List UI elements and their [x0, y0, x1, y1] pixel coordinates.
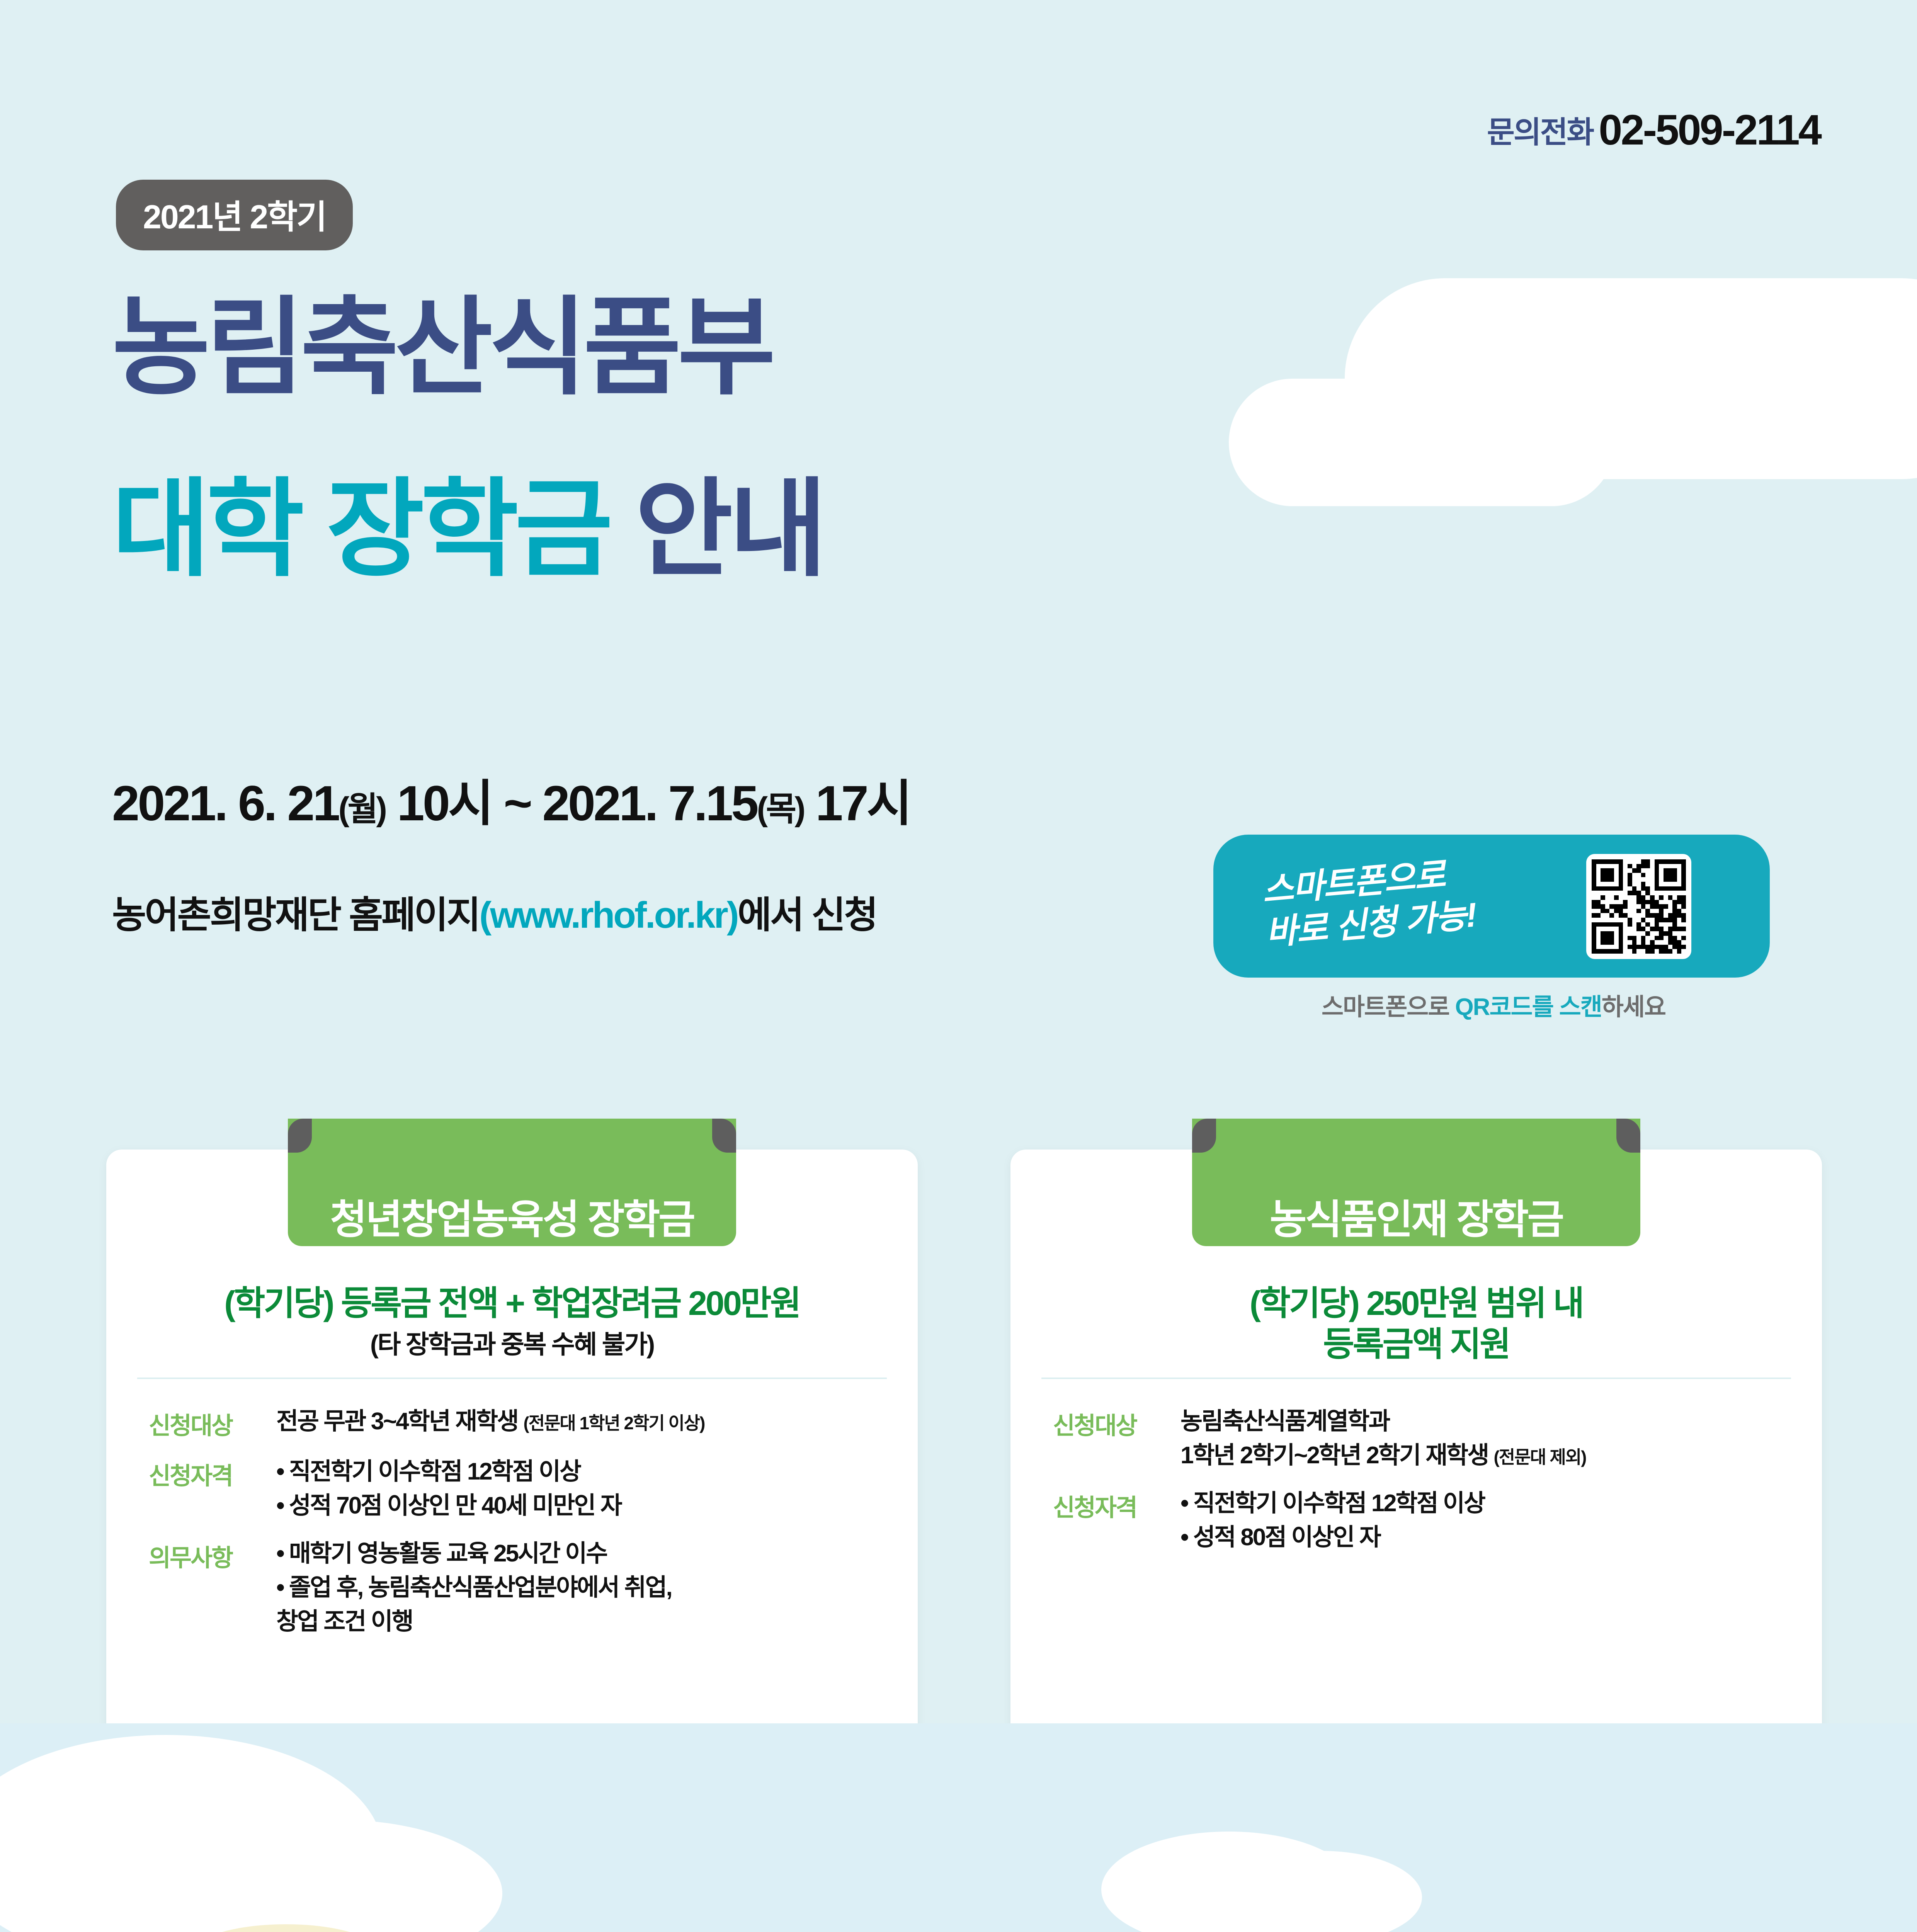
contact-phone: 문의전화 02-509-2114 [1487, 108, 1820, 151]
apply-suffix: 에서 신청 [738, 895, 877, 936]
period-tilde: ~ [503, 776, 531, 831]
detail-row: 신청자격 • 직전학기 이수학점 12학점 이상 • 성적 80점 이상인 자 [1053, 1486, 1795, 1554]
phone-label: 문의전화 [1487, 108, 1593, 151]
detail-row-key: 신청대상 [1053, 1405, 1180, 1473]
qr-caption-post: 하세요 [1602, 994, 1665, 1020]
detail-row-value: 전공 무관 3~4학년 재학생 (전문대 1학년 2학기 이상) [276, 1405, 891, 1441]
detail-value-main: 농림축산식품계열학과 [1180, 1408, 1389, 1435]
page-title-navy: 안내 [635, 470, 823, 589]
ribbon-pin-left-icon [288, 1119, 312, 1153]
farm-illustration-svg [0, 1723, 1917, 1932]
ribbon-pin-right-icon [712, 1119, 736, 1153]
card-title: 농식품인재 장학금 [1010, 1187, 1822, 1245]
detail-value-note: (전문대 제외) [1493, 1447, 1586, 1467]
card-divider [1041, 1378, 1791, 1379]
ribbon-pin-left-icon [1192, 1119, 1216, 1153]
detail-row-value: • 매학기 영농활동 교육 25시간 이수 • 졸업 후, 농림축산식품산업분야… [276, 1537, 891, 1639]
cloud-decor-2 [1229, 379, 1615, 506]
period-end-time: 17시 [816, 776, 910, 831]
detail-row-key: 의무사항 [149, 1537, 276, 1639]
poster-root: 문의전화 02-509-2114 2021년 2학기 농림축산식품부 대학 장학… [0, 0, 1917, 1932]
period-start-day: (월) [338, 791, 385, 828]
detail-row-value: 농림축산식품계열학과 1학년 2학기~2학년 2학기 재학생 (전문대 제외) [1180, 1405, 1795, 1473]
period-end-day: (목) [757, 791, 804, 828]
card-title: 청년창업농육성 장학금 [106, 1187, 918, 1245]
farm-illustration: 농림축산식품부 HOPE KRA와 함께하는 농어촌희망재단 [0, 1723, 1917, 1932]
apply-prefix: 농어촌희망재단 홈페이지 [112, 895, 479, 936]
detail-row: 신청대상 농림축산식품계열학과 1학년 2학기~2학년 2학기 재학생 (전문대… [1053, 1405, 1795, 1473]
detail-bullet: • 직전학기 이수학점 12학점 이상 [1180, 1486, 1795, 1520]
qr-code-matrix [1592, 859, 1686, 954]
card-amount-main: (학기당) 250만원 범위 내 [1250, 1284, 1583, 1322]
card-detail-rows: 신청대상 전공 무관 3~4학년 재학생 (전문대 1학년 2학기 이상) 신청… [149, 1405, 891, 1653]
detail-row-value: • 직전학기 이수학점 12학점 이상 • 성적 80점 이상인 자 [1180, 1486, 1795, 1554]
scholarship-card-youth-startup-farmer: 청년창업농육성 장학금 (학기당) 등록금 전액 + 학업장려금 200만원 (… [106, 1150, 918, 1806]
application-period: 2021. 6. 21(월) 10시 ~ 2021. 7.15(목) 17시 [112, 763, 910, 835]
detail-row-value: • 직전학기 이수학점 12학점 이상 • 성적 70점 이상인 만 40세 미… [276, 1455, 891, 1523]
detail-row: 의무사항 • 매학기 영농활동 교육 25시간 이수 • 졸업 후, 농림축산식… [149, 1537, 891, 1639]
detail-row: 신청대상 전공 무관 3~4학년 재학생 (전문대 1학년 2학기 이상) [149, 1405, 891, 1441]
detail-bullet: • 직전학기 이수학점 12학점 이상 [276, 1455, 891, 1489]
card-amount: (학기당) 250만원 범위 내 등록금액 지원 [1026, 1283, 1806, 1364]
apply-site-line: 농어촌희망재단 홈페이지(www.rhof.or.kr)에서 신청 [112, 885, 877, 939]
detail-bullet: 창업 조건 이행 [276, 1605, 891, 1639]
card-amount-sub: (타 장학금과 중복 수혜 불가) [122, 1329, 902, 1360]
card-divider [137, 1378, 887, 1379]
detail-bullet: • 매학기 영농활동 교육 25시간 이수 [276, 1537, 891, 1571]
detail-value-main: 전공 무관 3~4학년 재학생 [276, 1408, 523, 1435]
qr-caption-highlight: QR코드를 스캔 [1455, 994, 1601, 1020]
page-title-line1: 농림축산식품부 [112, 294, 772, 403]
page-title-teal: 대학 장학금 [112, 470, 609, 589]
detail-bullet: • 졸업 후, 농림축산식품산업분야에서 취업, [276, 1571, 891, 1605]
detail-row: 신청자격 • 직전학기 이수학점 12학점 이상 • 성적 70점 이상인 만 … [149, 1455, 891, 1523]
period-start-time: 10시 [397, 776, 492, 831]
apply-url[interactable]: (www.rhof.or.kr) [479, 895, 737, 936]
semester-badge: 2021년 2학기 [116, 180, 353, 250]
detail-value-note: (전문대 1학년 2학기 이상) [523, 1413, 704, 1433]
card-detail-rows: 신청대상 농림축산식품계열학과 1학년 2학기~2학년 2학기 재학생 (전문대… [1053, 1405, 1795, 1568]
detail-bullet: • 성적 80점 이상인 자 [1180, 1520, 1795, 1554]
detail-row-key: 신청자격 [149, 1455, 276, 1523]
scholarship-card-agrifood-talent: 농식품인재 장학금 (학기당) 250만원 범위 내 등록금액 지원 신청대상 … [1010, 1150, 1822, 1806]
detail-row-key: 신청대상 [149, 1405, 276, 1441]
qr-caption-pre: 스마트폰으로 [1322, 994, 1455, 1020]
phone-number: 02-509-2114 [1599, 109, 1820, 151]
qr-code[interactable] [1586, 854, 1691, 959]
semester-badge-label: 2021년 2학기 [143, 199, 326, 236]
ribbon-pin-right-icon [1616, 1119, 1640, 1153]
page-title-line2: 대학 장학금 안내 [112, 475, 823, 584]
period-start-date: 2021. 6. 21 [112, 776, 338, 831]
card-amount-main2: 등록금액 지원 [1323, 1325, 1509, 1363]
qr-caption: 스마트폰으로 QR코드를 스캔하세요 [1233, 987, 1754, 1022]
detail-bullet: • 성적 70점 이상인 만 40세 미만인 자 [276, 1489, 891, 1523]
card-amount-main: (학기당) 등록금 전액 + 학업장려금 200만원 [224, 1284, 799, 1322]
detail-value-line2: 1학년 2학기~2학년 2학기 재학생 [1180, 1442, 1493, 1469]
period-end-date: 2021. 7.15 [543, 776, 757, 831]
detail-row-key: 신청자격 [1053, 1486, 1180, 1554]
card-amount: (학기당) 등록금 전액 + 학업장려금 200만원 (타 장학금과 중복 수혜… [122, 1283, 902, 1360]
